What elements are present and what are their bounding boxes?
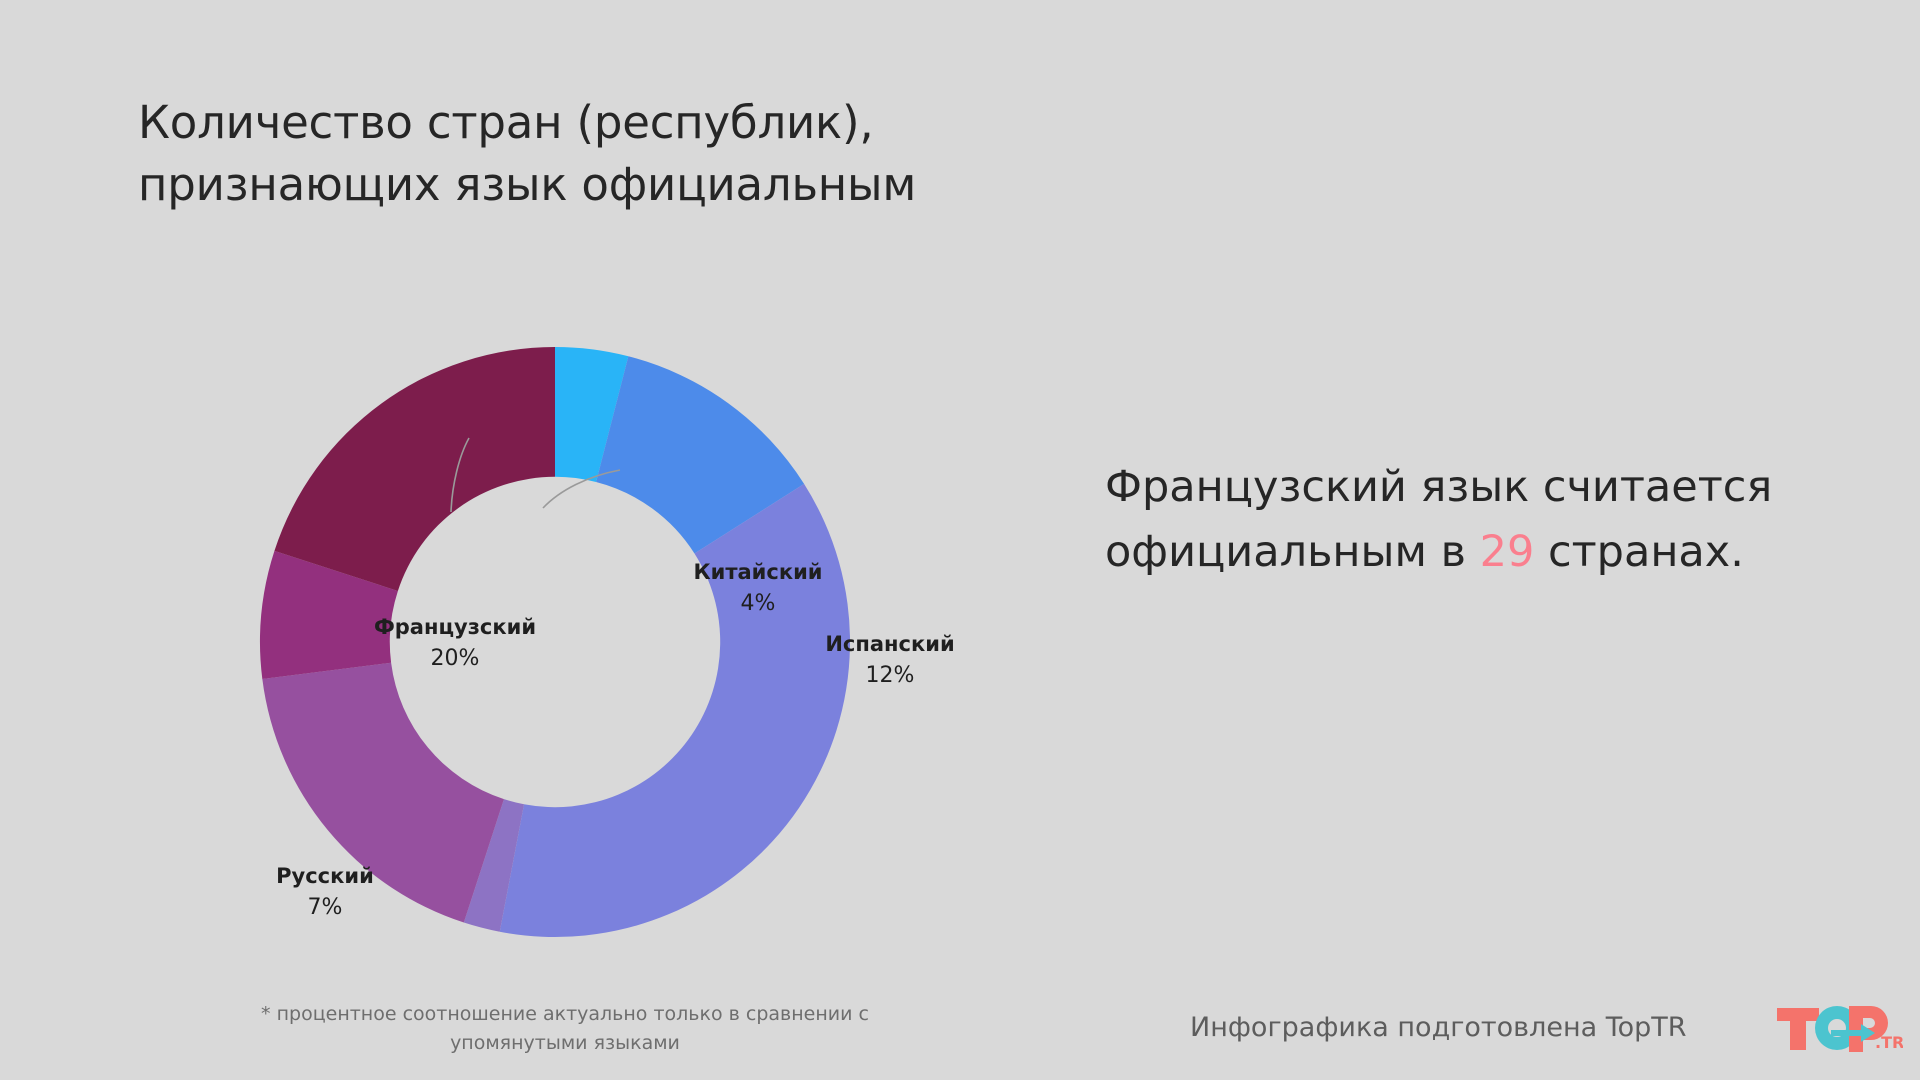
callout-line-2-before: официальным в	[1105, 527, 1480, 577]
slice-label-french: Французский 20%	[340, 613, 570, 674]
callout-line-2: официальным в 29 странах.	[1105, 520, 1865, 585]
page-title-line-2: признающих язык официальным	[138, 154, 1038, 216]
credit-text: Инфографика подготовлена TopTR	[1190, 1012, 1687, 1043]
footnote-line-1: * процентное соотношение актуально тольк…	[205, 1000, 925, 1029]
callout-line-1: Французский язык считается	[1105, 455, 1865, 520]
slice-label-chinese: Китайский 4%	[648, 558, 868, 619]
slice-pct-spanish: 12%	[780, 660, 1000, 691]
footnote: * процентное соотношение актуально тольк…	[205, 1000, 925, 1059]
page-title-line-1: Количество стран (республик),	[138, 92, 1038, 154]
donut-slice-6[interactable]	[274, 347, 555, 591]
slice-label-russian: Русский 7%	[225, 862, 425, 923]
slice-pct-french: 20%	[340, 643, 570, 674]
page-title: Количество стран (республик), признающих…	[138, 92, 1038, 216]
slice-pct-russian: 7%	[225, 892, 425, 923]
slice-name-spanish: Испанский	[780, 630, 1000, 660]
footnote-line-2: упомянутыми языками	[205, 1029, 925, 1058]
callout-highlight-number: 29	[1480, 527, 1535, 577]
toptr-logo[interactable]: .TR	[1775, 1000, 1903, 1060]
infographic-canvas: Количество стран (республик), признающих…	[0, 0, 1920, 1080]
slice-label-spanish: Испанский 12%	[780, 630, 1000, 691]
slice-pct-chinese: 4%	[648, 588, 868, 619]
slice-name-russian: Русский	[225, 862, 425, 892]
callout-line-2-after: странах.	[1534, 527, 1744, 577]
donut-slice-2[interactable]	[500, 484, 850, 937]
logo-suffix: .TR	[1875, 1033, 1903, 1052]
logo-letter-t	[1777, 1008, 1819, 1050]
donut-chart: Китайский 4% Испанский 12% Английский 37…	[150, 280, 990, 1000]
slice-name-french: Французский	[340, 613, 570, 643]
slice-name-chinese: Китайский	[648, 558, 868, 588]
callout-text: Французский язык считается официальным в…	[1105, 455, 1865, 584]
